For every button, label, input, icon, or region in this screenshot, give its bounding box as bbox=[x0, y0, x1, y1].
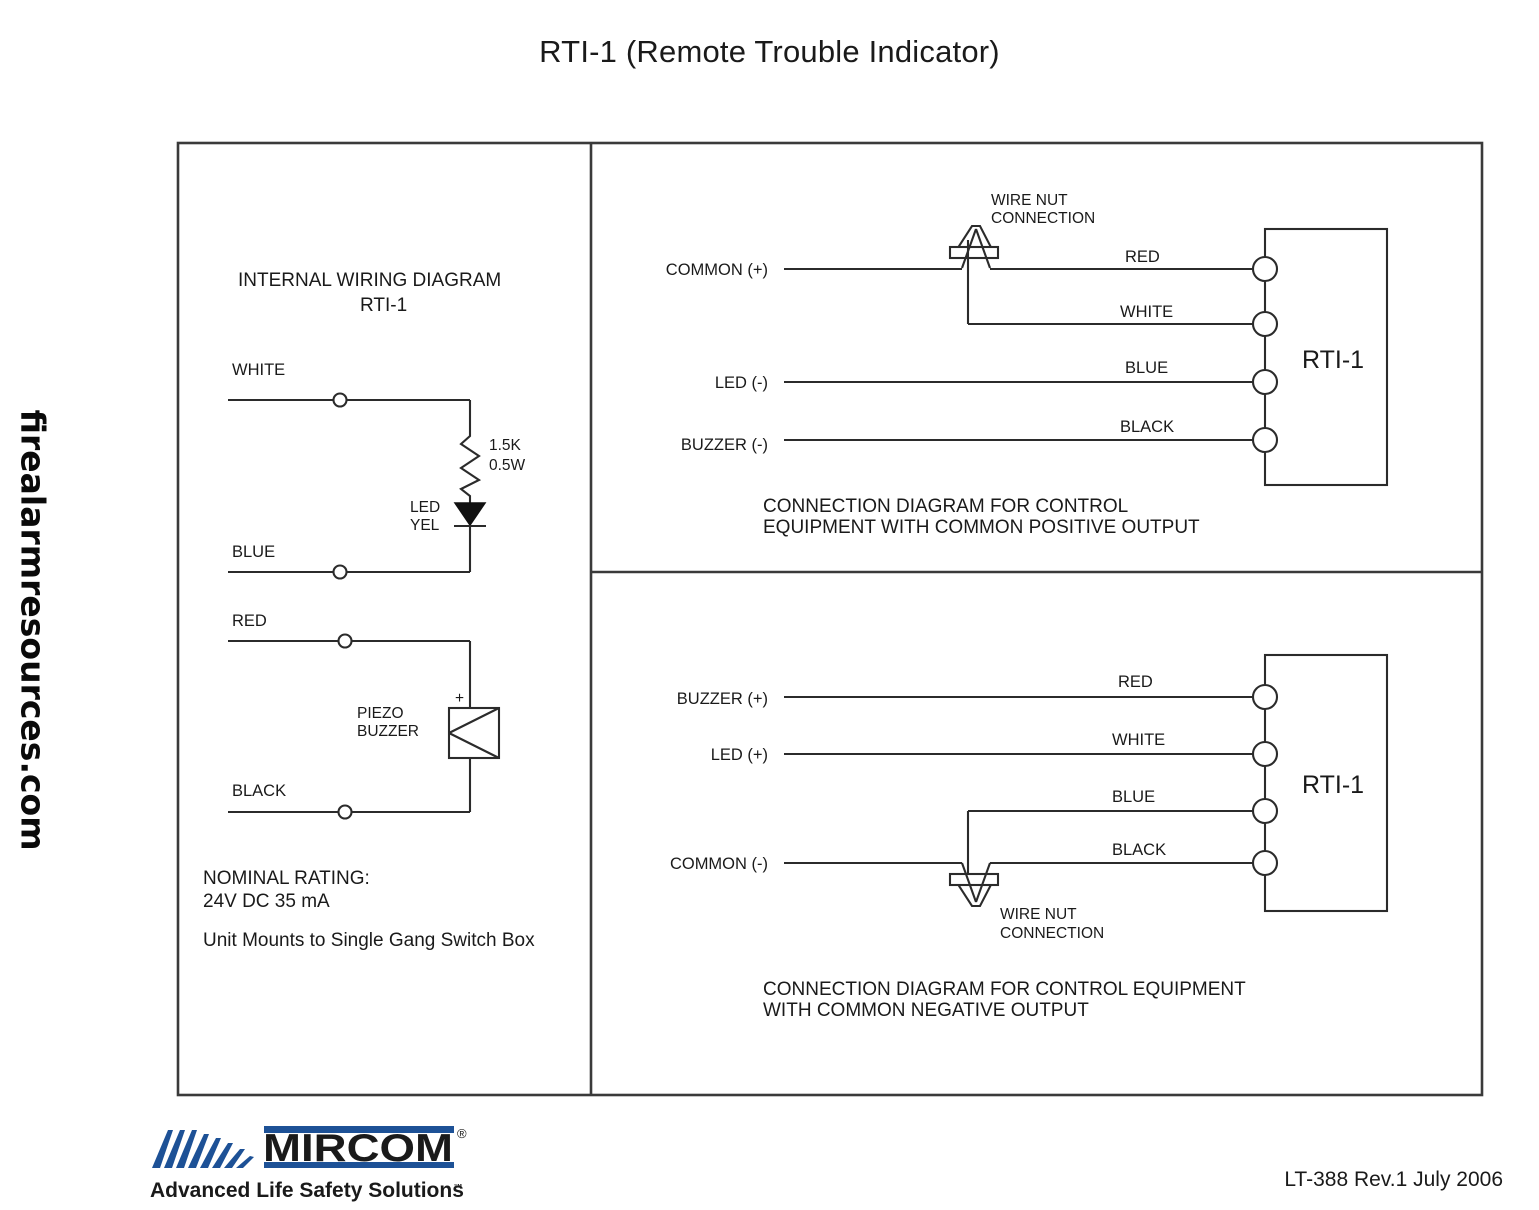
left-white-label: WHITE bbox=[232, 361, 285, 379]
left-blue-label: BLUE bbox=[232, 543, 275, 561]
left-black-terminal-dot bbox=[339, 806, 352, 819]
bottom-wire-label-blue: BLUE bbox=[1112, 788, 1155, 806]
top-source-led-negative: LED (-) bbox=[715, 374, 768, 392]
bottom-terminal-blue bbox=[1253, 799, 1277, 823]
top-terminal-white bbox=[1253, 312, 1277, 336]
bottom-source-buzzer-positive: BUZZER (+) bbox=[677, 690, 768, 708]
resistor-value-line1: 1.5K bbox=[489, 437, 522, 454]
top-rti-unit-label: RTI-1 bbox=[1302, 346, 1364, 374]
nominal-rating-value: 24V DC 35 mA bbox=[203, 891, 330, 912]
bottom-terminal-white bbox=[1253, 742, 1277, 766]
top-wire-label-red: RED bbox=[1125, 248, 1160, 266]
mircom-service-mark-icon: ℠ bbox=[453, 1183, 464, 1195]
internal-heading-line2: RTI-1 bbox=[360, 295, 407, 316]
mircom-stripes-mark bbox=[152, 1130, 254, 1168]
wiring-diagram: INTERNAL WIRING DIAGRAM RTI-1 WHITE 1.5K… bbox=[0, 0, 1539, 1210]
top-caption-line1: CONNECTION DIAGRAM FOR CONTROL bbox=[763, 496, 1128, 517]
led-triangle-icon bbox=[455, 503, 485, 525]
document-reference: LT-388 Rev.1 July 2006 bbox=[1284, 1168, 1503, 1192]
bottom-terminal-red bbox=[1253, 685, 1277, 709]
mircom-logo: MIRCOM ® Advanced Life Safety Solutions … bbox=[146, 1112, 476, 1204]
internal-heading-line1: INTERNAL WIRING DIAGRAM bbox=[238, 270, 501, 291]
led-label-line2: YEL bbox=[410, 517, 440, 534]
diagram-page: RTI-1 (Remote Trouble Indicator) fireala… bbox=[0, 0, 1539, 1210]
top-wire-label-white: WHITE bbox=[1120, 303, 1173, 321]
piezo-label-line1: PIEZO bbox=[357, 705, 404, 722]
led-label-line1: LED bbox=[410, 499, 440, 516]
top-wire-nut-label-line2: CONNECTION bbox=[991, 210, 1095, 227]
left-red-terminal-dot bbox=[339, 635, 352, 648]
resistor-symbol bbox=[461, 432, 479, 500]
bottom-wire-nut-label-line1: WIRE NUT bbox=[1000, 906, 1077, 923]
mircom-registered-icon: ® bbox=[457, 1126, 467, 1141]
piezo-buzzer-symbol bbox=[449, 708, 499, 758]
top-wire-label-black: BLACK bbox=[1120, 418, 1174, 436]
bottom-wire-label-white: WHITE bbox=[1112, 731, 1165, 749]
piezo-polarity-label: + bbox=[455, 690, 464, 707]
bottom-caption-line1: CONNECTION DIAGRAM FOR CONTROL EQUIPMENT bbox=[763, 979, 1246, 1000]
top-terminal-blue bbox=[1253, 370, 1277, 394]
top-wire-nut-label-line1: WIRE NUT bbox=[991, 192, 1068, 209]
mircom-tagline: Advanced Life Safety Solutions bbox=[150, 1179, 464, 1202]
resistor-value-line2: 0.5W bbox=[489, 457, 526, 474]
top-caption-line2: EQUIPMENT WITH COMMON POSITIVE OUTPUT bbox=[763, 517, 1200, 538]
top-terminal-black bbox=[1253, 428, 1277, 452]
left-black-label: BLACK bbox=[232, 782, 286, 800]
mounting-note: Unit Mounts to Single Gang Switch Box bbox=[203, 930, 535, 951]
bottom-rti-unit-label: RTI-1 bbox=[1302, 771, 1364, 799]
bottom-source-common-negative: COMMON (-) bbox=[670, 855, 768, 873]
top-source-common-positive: COMMON (+) bbox=[666, 261, 768, 279]
top-wire-nut-band bbox=[950, 247, 998, 258]
left-blue-terminal-dot bbox=[334, 566, 347, 579]
bottom-wire-label-black: BLACK bbox=[1112, 841, 1166, 859]
left-red-label: RED bbox=[232, 612, 267, 630]
bottom-caption-line2: WITH COMMON NEGATIVE OUTPUT bbox=[763, 1000, 1089, 1021]
bottom-wire-nut-band bbox=[950, 874, 998, 885]
nominal-rating-label: NOMINAL RATING: bbox=[203, 868, 370, 889]
bottom-source-led-positive: LED (+) bbox=[711, 746, 768, 764]
top-source-buzzer-negative: BUZZER (-) bbox=[681, 436, 768, 454]
bottom-terminal-black bbox=[1253, 851, 1277, 875]
bottom-wire-nut-label-line2: CONNECTION bbox=[1000, 925, 1104, 942]
left-white-terminal-dot bbox=[334, 394, 347, 407]
bottom-wire-label-red: RED bbox=[1118, 673, 1153, 691]
top-wire-label-blue: BLUE bbox=[1125, 359, 1168, 377]
mircom-wordmark: MIRCOM bbox=[263, 1127, 453, 1170]
piezo-label-line2: BUZZER bbox=[357, 723, 419, 740]
top-terminal-red bbox=[1253, 257, 1277, 281]
